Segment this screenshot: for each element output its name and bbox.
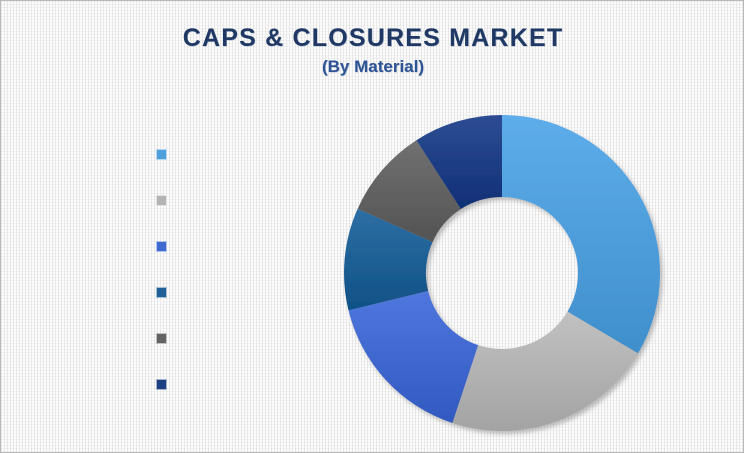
donut-slice[interactable] [502, 115, 660, 353]
legend-item[interactable] [156, 240, 321, 252]
legend-item[interactable] [156, 378, 321, 390]
chart-subtitle: (By Material) [1, 58, 744, 77]
legend-swatch-2 [156, 195, 167, 206]
legend-item[interactable] [156, 194, 321, 206]
legend-swatch-6 [156, 379, 167, 390]
chart-figure: CAPS & CLOSURES MARKET (By Material) [0, 0, 744, 453]
donut-slice[interactable] [348, 291, 478, 423]
legend-swatch-1 [156, 149, 167, 160]
page-title: CAPS & CLOSURES MARKET [1, 25, 744, 53]
legend-item[interactable] [156, 148, 321, 160]
legend-item[interactable] [156, 332, 321, 344]
legend-item[interactable] [156, 286, 321, 298]
donut-chart-svg [336, 107, 668, 439]
legend-swatch-3 [156, 241, 167, 252]
legend-swatch-5 [156, 333, 167, 344]
donut-chart [336, 107, 668, 439]
chart-legend [156, 148, 321, 424]
legend-swatch-4 [156, 287, 167, 298]
title-block: CAPS & CLOSURES MARKET (By Material) [1, 25, 744, 76]
